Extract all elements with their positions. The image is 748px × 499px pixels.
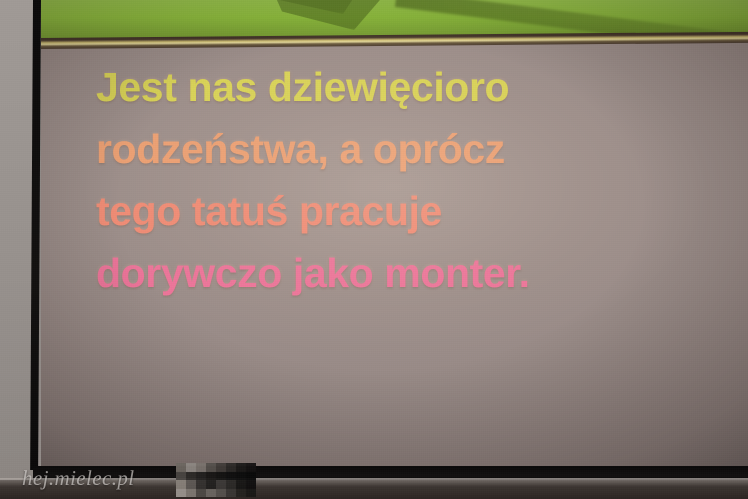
- mosaic-cell: [226, 489, 236, 498]
- mosaic-cell: [186, 489, 196, 498]
- mosaic-cell: [176, 480, 186, 489]
- mosaic-cell: [196, 480, 206, 489]
- slide-text-line-2: rodzeństwa, a oprócz: [96, 118, 736, 180]
- mosaic-cell: [226, 472, 236, 481]
- mosaic-cell: [236, 463, 246, 472]
- mosaic-cell: [246, 489, 256, 498]
- mosaic-cell: [176, 489, 186, 498]
- mosaic-cell: [216, 463, 226, 472]
- mosaic-cell: [186, 463, 196, 472]
- mosaic-cell: [206, 480, 216, 489]
- mosaic-cell: [236, 472, 246, 481]
- mosaic-cell: [206, 489, 216, 498]
- mosaic-cell: [196, 463, 206, 472]
- pixelated-censor-block: [176, 463, 256, 497]
- mosaic-cell: [246, 472, 256, 481]
- mosaic-cell: [216, 472, 226, 481]
- mosaic-cell: [226, 463, 236, 472]
- mosaic-cell: [186, 480, 196, 489]
- watermark-label: hej.mielec.pl: [22, 466, 135, 491]
- mosaic-cell: [246, 480, 256, 489]
- mosaic-cell: [236, 489, 246, 498]
- mosaic-cell: [196, 472, 206, 481]
- slide-body-text: Jest nas dziewięcioro rodzeństwa, a opró…: [96, 56, 736, 304]
- mosaic-cell: [216, 480, 226, 489]
- projected-slide: Jest nas dziewięcioro rodzeństwa, a opró…: [41, 0, 748, 466]
- mosaic-cell: [226, 480, 236, 489]
- photo-screenshot: Jest nas dziewięcioro rodzeństwa, a opró…: [0, 0, 748, 499]
- mosaic-cell: [216, 489, 226, 498]
- wall-left-slab: [0, 0, 34, 499]
- slide-text-line-1: Jest nas dziewięcioro: [96, 56, 736, 118]
- mosaic-cell: [236, 480, 246, 489]
- slide-text-line-4: dorywczo jako monter.: [96, 242, 736, 304]
- slide-text-line-3: tego tatuś pracuje: [96, 180, 736, 242]
- mosaic-cell: [246, 463, 256, 472]
- mosaic-cell: [196, 489, 206, 498]
- mosaic-cell: [176, 472, 186, 481]
- mosaic-cell: [176, 463, 186, 472]
- mosaic-cell: [206, 472, 216, 481]
- mosaic-cell: [186, 472, 196, 481]
- mosaic-cell: [206, 463, 216, 472]
